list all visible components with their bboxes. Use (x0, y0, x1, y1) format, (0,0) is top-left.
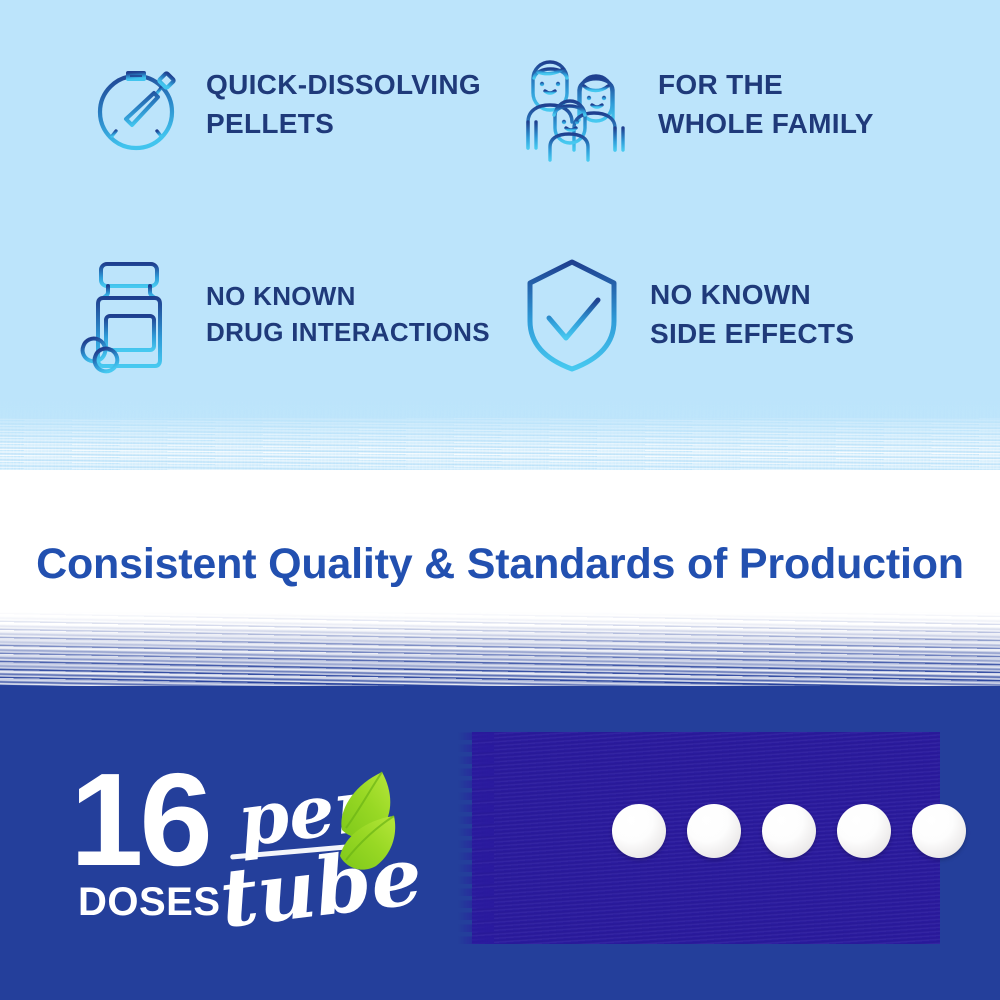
dose-count: 16 (70, 754, 209, 886)
page-headline: Consistent Quality & Standards of Produc… (0, 540, 1000, 589)
pellet-icon (837, 804, 891, 858)
leaf-icon (322, 768, 408, 883)
feature-label: NO KNOWN SIDE EFFECTS (650, 276, 854, 353)
pellet-row (612, 804, 966, 858)
feature-label: QUICK-DISSOLVING PELLETS (206, 66, 481, 143)
features-section: QUICK-DISSOLVING PELLETS (0, 0, 1000, 470)
stopwatch-icon (72, 49, 184, 161)
pellet-icon (912, 804, 966, 858)
pellet-icon (612, 804, 666, 858)
dose-label: DOSES (78, 880, 221, 925)
infographic-canvas: QUICK-DISSOLVING PELLETS (0, 0, 1000, 1000)
pill-bottle-icon (72, 256, 184, 374)
pellet-icon (687, 804, 741, 858)
brush-patch (472, 732, 940, 944)
feature-label: NO KNOWN DRUG INTERACTIONS (206, 279, 490, 351)
shield-check-icon (516, 254, 628, 376)
feature-no-known-side-effects: NO KNOWN SIDE EFFECTS (500, 210, 1000, 420)
feature-for-the-whole-family: FOR THE WHOLE FAMILY (500, 0, 1000, 210)
feature-no-known-drug-interactions: NO KNOWN DRUG INTERACTIONS (0, 210, 500, 420)
feature-label: FOR THE WHOLE FAMILY (658, 66, 874, 143)
feature-quick-dissolving-pellets: QUICK-DISSOLVING PELLETS (0, 0, 500, 210)
pellet-icon (762, 804, 816, 858)
family-icon (516, 46, 636, 164)
dose-block: 16 DOSES per tube (70, 762, 470, 942)
feature-grid: QUICK-DISSOLVING PELLETS (0, 0, 1000, 420)
